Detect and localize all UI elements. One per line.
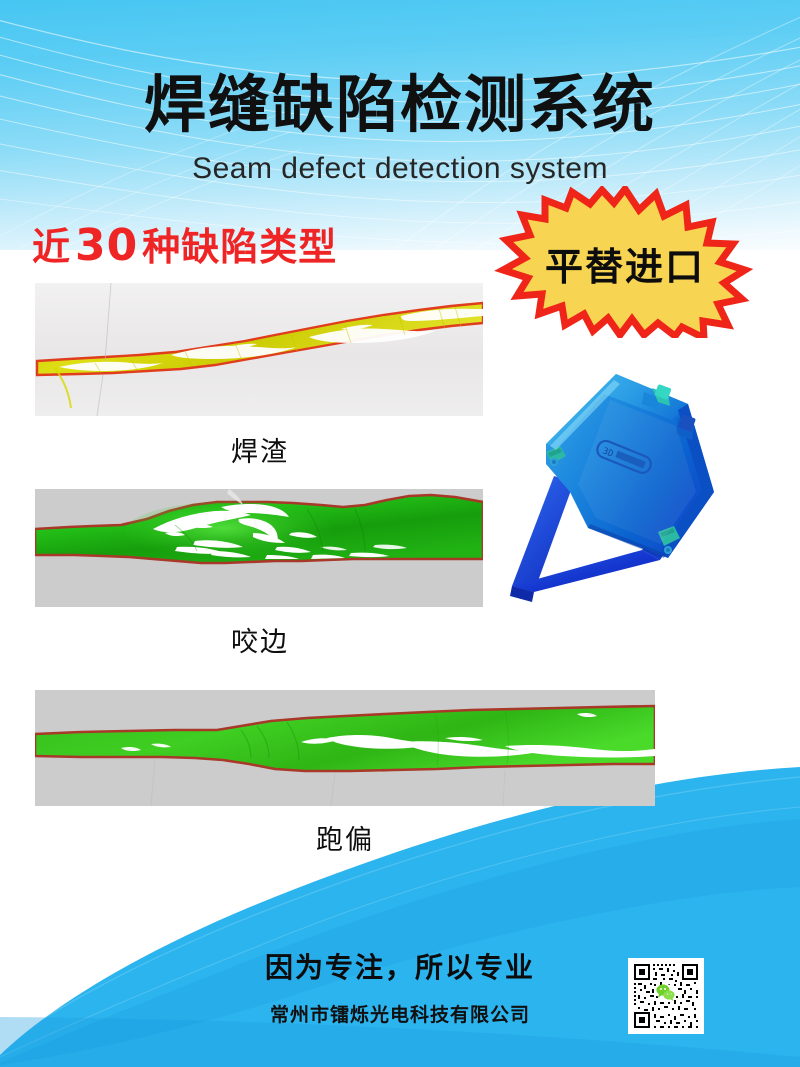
defect-caption-1: 焊渣 (100, 430, 420, 469)
page-subtitle: Seam defect detection system (0, 152, 800, 186)
defect-sample-image-1 (35, 283, 483, 416)
wechat-qr-code[interactable] (628, 958, 704, 1034)
defect-sample-image-2 (35, 489, 483, 607)
import-replacement-badge: 平替进口 (492, 186, 758, 338)
defect-caption-2: 咬边 (100, 620, 420, 659)
headline-number: 30 (71, 220, 142, 271)
laser-scanner-device: 3D (492, 352, 722, 614)
defect-caption-3: 跑偏 (185, 818, 505, 857)
badge-label: 平替进口 (492, 186, 758, 338)
defect-count-headline: 近30种缺陷类型 (32, 216, 337, 271)
headline-suffix: 种缺陷类型 (142, 225, 337, 269)
headline-prefix: 近 (32, 225, 71, 269)
poster-canvas: 焊缝缺陷检测系统 Seam defect detection system 近3… (0, 0, 800, 1067)
page-title: 焊缝缺陷检测系统 (0, 72, 800, 137)
defect-sample-image-3 (35, 690, 655, 806)
